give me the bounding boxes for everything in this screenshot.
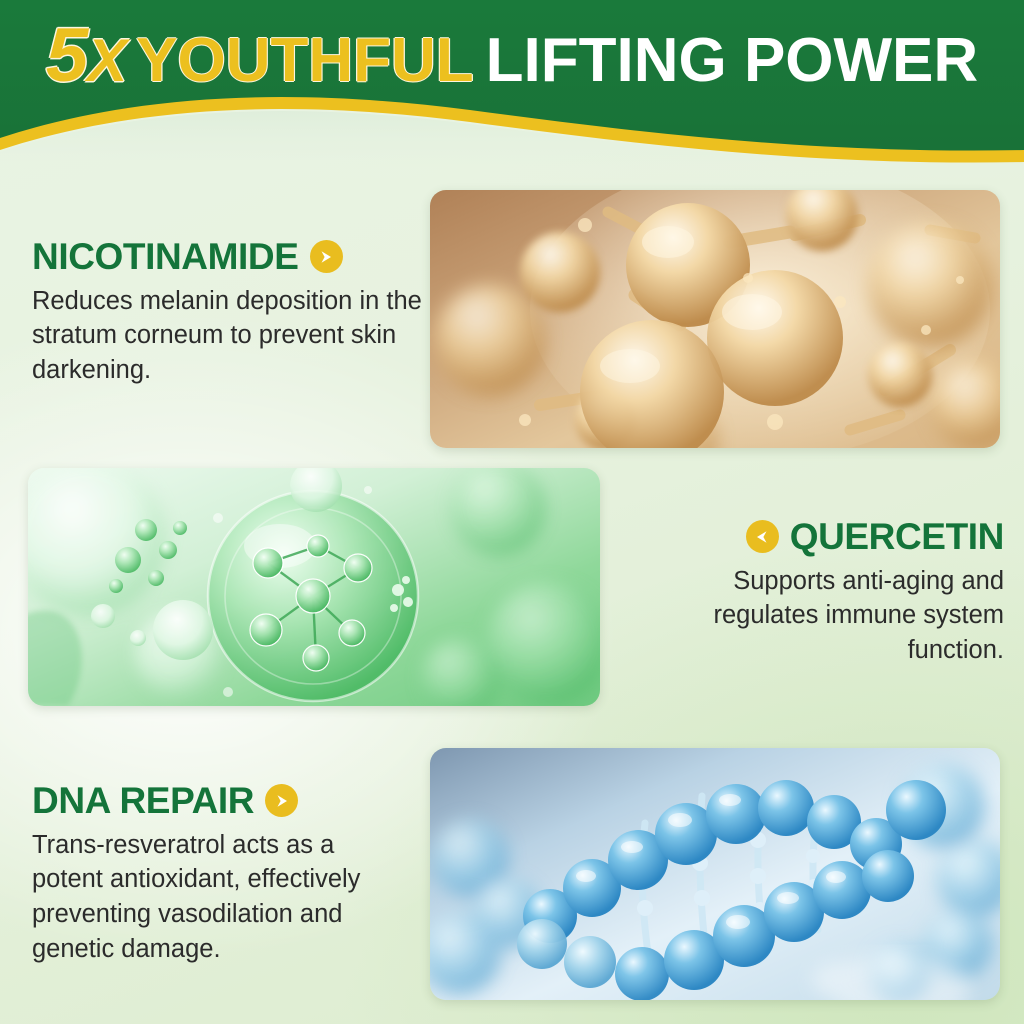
feature-text-quercetin: QUERCETIN Supports anti-aging and regula… — [640, 518, 1004, 668]
feature-description: Supports anti-aging and regulates immune… — [640, 564, 1004, 668]
feature-image-nicotinamide — [430, 190, 1000, 448]
title-highlight: YOUTHFUL — [136, 26, 474, 95]
chevron-right-glyph — [318, 249, 334, 265]
feature-heading-row: QUERCETIN — [640, 518, 1004, 556]
feature-description: Trans-resveratrol acts as a potent antio… — [32, 828, 410, 967]
page-title: 5XYOUTHFULLIFTING POWER — [0, 18, 1024, 94]
feature-description: Reduces melanin deposition in the stratu… — [32, 284, 424, 388]
arrow-right-circle-icon[interactable] — [265, 784, 298, 817]
title-multiplier: 5X — [46, 13, 126, 98]
feature-heading-row: DNA REPAIR — [32, 782, 410, 820]
amber-molecule-art — [430, 190, 1000, 448]
green-bubble-art — [28, 468, 600, 706]
arrow-right-circle-icon[interactable] — [310, 240, 343, 273]
feature-title: QUERCETIN — [790, 518, 1004, 556]
dna-helix-art — [430, 748, 1000, 1000]
feature-text-nicotinamide: NICOTINAMIDE Reduces melanin deposition … — [32, 238, 424, 388]
arrow-left-circle-icon[interactable] — [746, 520, 779, 553]
feature-image-dna — [430, 748, 1000, 1000]
chevron-left-glyph — [754, 529, 770, 545]
header-banner: 5XYOUTHFULLIFTING POWER — [0, 0, 1024, 180]
feature-text-dna-repair: DNA REPAIR Trans-resveratrol acts as a p… — [32, 782, 410, 966]
feature-image-quercetin — [28, 468, 600, 706]
title-rest: LIFTING POWER — [486, 26, 979, 95]
feature-heading-row: NICOTINAMIDE — [32, 238, 424, 276]
title-multiplier-x: X — [87, 27, 126, 94]
feature-title: DNA REPAIR — [32, 782, 254, 820]
chevron-right-glyph — [274, 793, 290, 809]
feature-title: NICOTINAMIDE — [32, 238, 299, 276]
product-infographic: 5XYOUTHFULLIFTING POWER — [0, 0, 1024, 1024]
